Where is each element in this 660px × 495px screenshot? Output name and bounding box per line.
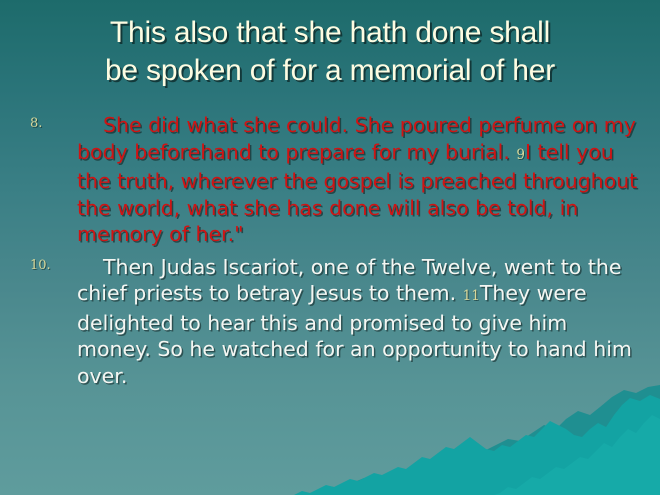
mountain-ridge-decoration xyxy=(0,385,660,495)
presentation-slide: This also that she hath done shall be sp… xyxy=(0,0,660,495)
paragraph-text: Then Judas Iscariot, one of the Twelve, … xyxy=(77,255,632,388)
list-marker: 8. xyxy=(30,116,42,131)
verse-number: 11 xyxy=(463,288,480,304)
list-item: 10. Then Judas Iscariot, one of the Twel… xyxy=(22,254,638,390)
ridge-back-shape xyxy=(304,385,660,495)
paragraph-text: She did what she could. She poured perfu… xyxy=(77,113,637,246)
list-marker: 10. xyxy=(30,258,51,273)
ridge-highlight-shape xyxy=(494,415,660,495)
slide-title-line-1: This also that she hath done shall xyxy=(0,14,660,52)
verse-number: 9 xyxy=(516,147,525,163)
slide-title: This also that she hath done shall be sp… xyxy=(0,14,660,90)
slide-title-line-2: be spoken of for a memorial of her xyxy=(0,52,660,90)
ridge-front-shape xyxy=(294,395,660,495)
slide-body: 8. She did what she could. She poured pe… xyxy=(22,112,638,395)
list-item: 8. She did what she could. She poured pe… xyxy=(22,112,638,248)
